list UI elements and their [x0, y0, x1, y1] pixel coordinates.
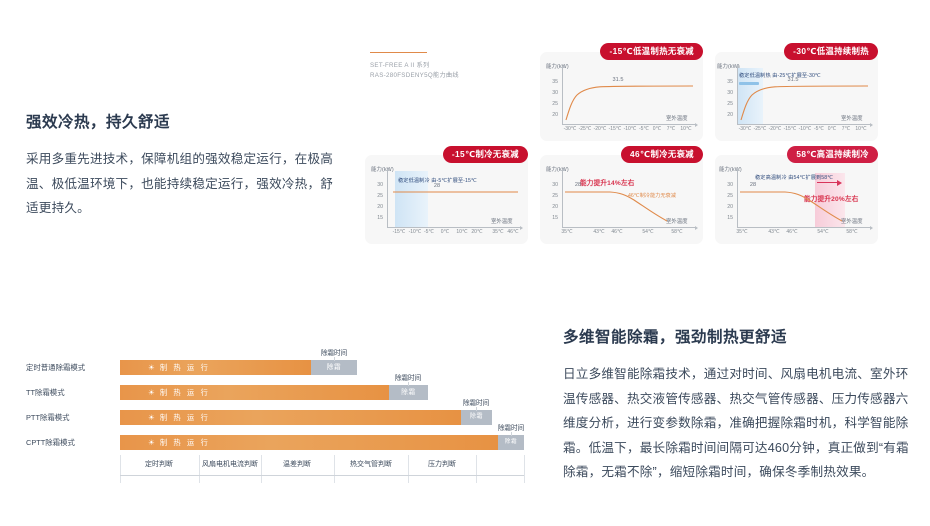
axis-divider	[334, 455, 335, 483]
axis-baseline	[120, 475, 524, 476]
defrost-time-tick	[511, 432, 512, 436]
axis-divider	[120, 455, 121, 483]
y-tick: 30	[719, 182, 733, 188]
x-tick: 10℃	[680, 126, 691, 132]
x-tick: -20℃	[594, 126, 607, 132]
sun-icon: ☀	[148, 388, 155, 397]
defrost-row: TT除霜模式 ☀制 热 运 行 除霜 除霜时间	[26, 385, 526, 400]
page-root: 强效冷热，持久舒适 采用多重先进技术，保障机组的强效稳定运行，在极高温、极低温环…	[0, 0, 930, 526]
y-tick: 20	[544, 204, 558, 210]
chart-value-label: 28	[750, 182, 756, 188]
x-tick: -5℃	[814, 126, 824, 132]
defrost-mode-label: CPTT除霜模式	[26, 435, 75, 450]
chart-plot-area-cool-58: 能力(kW) 30 25 20 15 稳定高温制冷 由54℃扩展到58℃ 能力提…	[715, 155, 878, 244]
axis-divider	[261, 455, 262, 483]
defrost-time-label: 除霜时间	[498, 422, 524, 432]
x-tick: 58℃	[846, 229, 857, 235]
x-tick: -5℃	[639, 126, 649, 132]
x-tick: -15℃	[784, 126, 797, 132]
y-tick: 25	[544, 101, 558, 107]
heat-operation-label: 制 热 运 行	[160, 438, 210, 447]
defrost-time-tick	[334, 357, 335, 361]
x-axis-line	[737, 124, 870, 125]
x-axis-arrow	[870, 123, 873, 127]
x-tick: 46℃	[507, 229, 518, 235]
feature-block-cooling-heating: 强效冷热，持久舒适 采用多重先进技术，保障机组的强效稳定运行，在极高温、极低温环…	[26, 113, 344, 221]
y-tick: 30	[369, 182, 383, 188]
y-tick: 20	[719, 112, 733, 118]
x-tick: -10℃	[409, 229, 422, 235]
chart-card-cool-58: 58℃高温持续制冷 能力(kW) 30 25 20 15 稳定高温制冷 由54℃…	[715, 155, 878, 244]
chart-card-heat-minus30: -30℃低温持续制热 能力(kW) 35 30 25 20 稳定低温制热 由-2…	[715, 52, 878, 141]
axis-divider	[199, 455, 200, 483]
x-axis-line	[737, 227, 870, 228]
x-tick: 7℃	[667, 126, 675, 132]
defrost-row: PTT除霜模式 ☀制 热 运 行 除霜 除霜时间	[26, 410, 526, 425]
chart-plot-area-heat-minus15: 能力(kW) 35 30 25 20 31.5 -30℃ -25℃ -20℃ -…	[540, 52, 703, 141]
y-tick: 30	[544, 90, 558, 96]
x-tick: -20℃	[769, 126, 782, 132]
defrost-timeline: 定时普通除霜模式 ☀制 热 运 行 除霜 除霜时间 TT除霜模式 ☀制 热 运 …	[26, 347, 526, 447]
x-tick: 10℃	[855, 126, 866, 132]
chart-value-label: 28	[575, 182, 581, 188]
x-axis-label: 室外温度	[841, 217, 863, 225]
defrost-mode-label: TT除霜模式	[26, 385, 65, 400]
defrost-time-tick	[476, 407, 477, 411]
sun-icon: ☀	[148, 413, 155, 422]
title-rule	[370, 52, 427, 53]
y-tick: 25	[369, 193, 383, 199]
defrost-criteria-label: 温差判断	[283, 459, 311, 469]
defrost-time-label: 除霜时间	[463, 397, 489, 407]
axis-divider	[524, 455, 525, 483]
x-tick: 46℃	[786, 229, 797, 235]
page-title: 强效冷热，持久舒适	[26, 113, 344, 133]
x-axis-label: 室外温度	[491, 217, 513, 225]
heat-operation-bar: ☀制 热 运 行	[120, 410, 461, 425]
heat-operation-label: 制 热 运 行	[160, 363, 210, 372]
x-tick: 0℃	[828, 126, 836, 132]
x-tick: -15℃	[393, 229, 406, 235]
x-tick: 43℃	[593, 229, 604, 235]
x-axis-arrow	[520, 226, 523, 230]
chart-card-cool-46: 46℃制冷无衰减 能力(kW) 30 25 20 15 能力提升14%左右 46…	[540, 155, 703, 244]
feature-description-defrost: 日立多维智能除霜技术，通过对时间、风扇电机电流、室外环温传感器、热交液管传感器、…	[563, 362, 915, 485]
chart-value-label: 31.5	[788, 77, 799, 83]
defrost-criteria-axis: 定时判断 风扇电机电流判断 温差判断 热交气管判断 压力判断	[26, 455, 526, 487]
heat-operation-bar: ☀制 热 运 行	[120, 385, 389, 400]
sun-icon: ☀	[148, 438, 155, 447]
x-tick: 54℃	[642, 229, 653, 235]
feature-description-cooling-heating: 采用多重先进技术，保障机组的强效稳定运行，在极高温、极低温环境下，也能持续稳定运…	[26, 147, 344, 221]
defrost-time-label: 除霜时间	[395, 372, 421, 382]
defrost-block: 除霜	[389, 385, 428, 400]
x-tick: 58℃	[671, 229, 682, 235]
x-tick: -5℃	[424, 229, 434, 235]
chart-plot-area-cool-46: 能力(kW) 30 25 20 15 能力提升14%左右 46℃制冷能力无衰减 …	[540, 155, 703, 244]
y-tick: 25	[719, 101, 733, 107]
x-tick: -10℃	[799, 126, 812, 132]
x-tick: -10℃	[624, 126, 637, 132]
x-tick: 0℃	[653, 126, 661, 132]
axis-divider	[408, 455, 409, 483]
series-title-line2: RAS-280FSDENY5Q能力曲线	[370, 71, 459, 82]
x-tick: -30℃	[564, 126, 577, 132]
x-axis-label: 室外温度	[666, 114, 688, 122]
defrost-time-label: 除霜时间	[321, 347, 347, 357]
defrost-row: 定时普通除霜模式 ☀制 热 运 行 除霜 除霜时间	[26, 360, 526, 375]
defrost-criteria-label: 风扇电机电流判断	[202, 459, 258, 469]
sun-icon: ☀	[148, 363, 155, 372]
x-tick: -25℃	[579, 126, 592, 132]
x-axis-arrow	[695, 226, 698, 230]
chart-badge-cool-58: 58℃高温持续制冷	[787, 146, 878, 163]
heat-operation-bar: ☀制 热 运 行	[120, 360, 311, 375]
y-tick: 20	[544, 112, 558, 118]
x-tick: 7℃	[842, 126, 850, 132]
x-axis-label: 室外温度	[841, 114, 863, 122]
x-axis-label: 室外温度	[666, 217, 688, 225]
y-tick: 15	[544, 215, 558, 221]
x-tick: 10℃	[456, 229, 467, 235]
chart-badge-heat-minus30: -30℃低温持续制热	[784, 43, 878, 60]
defrost-criteria-label: 定时判断	[145, 459, 173, 469]
x-tick: -30℃	[739, 126, 752, 132]
chart-card-heat-minus15: -15℃低温制热无衰减 能力(kW) 35 30 25 20 31.5 -30℃…	[540, 52, 703, 141]
heat-operation-label: 制 热 运 行	[160, 413, 210, 422]
x-tick: -15℃	[609, 126, 622, 132]
chart-card-cool-minus15: -15℃制冷无衰减 能力(kW) 30 25 20 15 稳定低温制冷 由-5℃…	[365, 155, 528, 244]
x-tick: 20℃	[471, 229, 482, 235]
feature-block-defrost: 多维智能除霜，强劲制热更舒适 日立多维智能除霜技术，通过对时间、风扇电机电流、室…	[563, 328, 915, 485]
defrost-criteria-label: 热交气管判断	[350, 459, 392, 469]
y-tick: 25	[719, 193, 733, 199]
x-tick: 35℃	[561, 229, 572, 235]
x-tick: 43℃	[768, 229, 779, 235]
y-tick: 30	[544, 182, 558, 188]
section-title-defrost: 多维智能除霜，强劲制热更舒适	[563, 328, 915, 348]
y-tick: 30	[719, 90, 733, 96]
y-tick: 25	[544, 193, 558, 199]
x-tick: -25℃	[754, 126, 767, 132]
y-tick: 15	[719, 215, 733, 221]
chart-badge-heat-minus15: -15℃低温制热无衰减	[600, 43, 703, 60]
x-axis-line	[562, 227, 695, 228]
axis-divider	[476, 455, 477, 483]
x-tick: 46℃	[611, 229, 622, 235]
chart-plot-area-cool-minus15: 能力(kW) 30 25 20 15 稳定低温制冷 由-5℃扩展至-15℃ 28…	[365, 155, 528, 244]
defrost-block: 除霜	[498, 435, 524, 450]
chart-value-label: 31.5	[613, 77, 624, 83]
defrost-block: 除霜	[461, 410, 492, 425]
defrost-criteria-label: 压力判断	[428, 459, 456, 469]
defrost-block: 除霜	[311, 360, 357, 375]
x-tick: 54℃	[817, 229, 828, 235]
defrost-mode-label: PTT除霜模式	[26, 410, 70, 425]
chart-value-label: 28	[434, 183, 440, 189]
x-axis-line	[387, 227, 520, 228]
heat-operation-label: 制 热 运 行	[160, 388, 210, 397]
x-tick: 0℃	[441, 229, 449, 235]
x-tick: 35℃	[492, 229, 503, 235]
defrost-row: CPTT除霜模式 ☀制 热 运 行 除霜 除霜时间	[26, 435, 526, 450]
y-tick: 35	[544, 79, 558, 85]
y-tick: 15	[369, 215, 383, 221]
x-axis-arrow	[695, 123, 698, 127]
heat-operation-bar: ☀制 热 运 行	[120, 435, 498, 450]
x-axis-arrow	[870, 226, 873, 230]
defrost-time-tick	[408, 382, 409, 386]
x-tick: 35℃	[736, 229, 747, 235]
chart-plot-area-heat-minus30: 能力(kW) 35 30 25 20 稳定低温制热 由-25℃扩展至-30℃ 3…	[715, 52, 878, 141]
chart-badge-cool-46: 46℃制冷无衰减	[621, 146, 703, 163]
x-axis-line	[562, 124, 695, 125]
y-tick: 35	[719, 79, 733, 85]
y-tick: 20	[719, 204, 733, 210]
chart-badge-cool-minus15: -15℃制冷无衰减	[443, 146, 528, 163]
defrost-mode-label: 定时普通除霜模式	[26, 360, 85, 375]
y-tick: 20	[369, 204, 383, 210]
